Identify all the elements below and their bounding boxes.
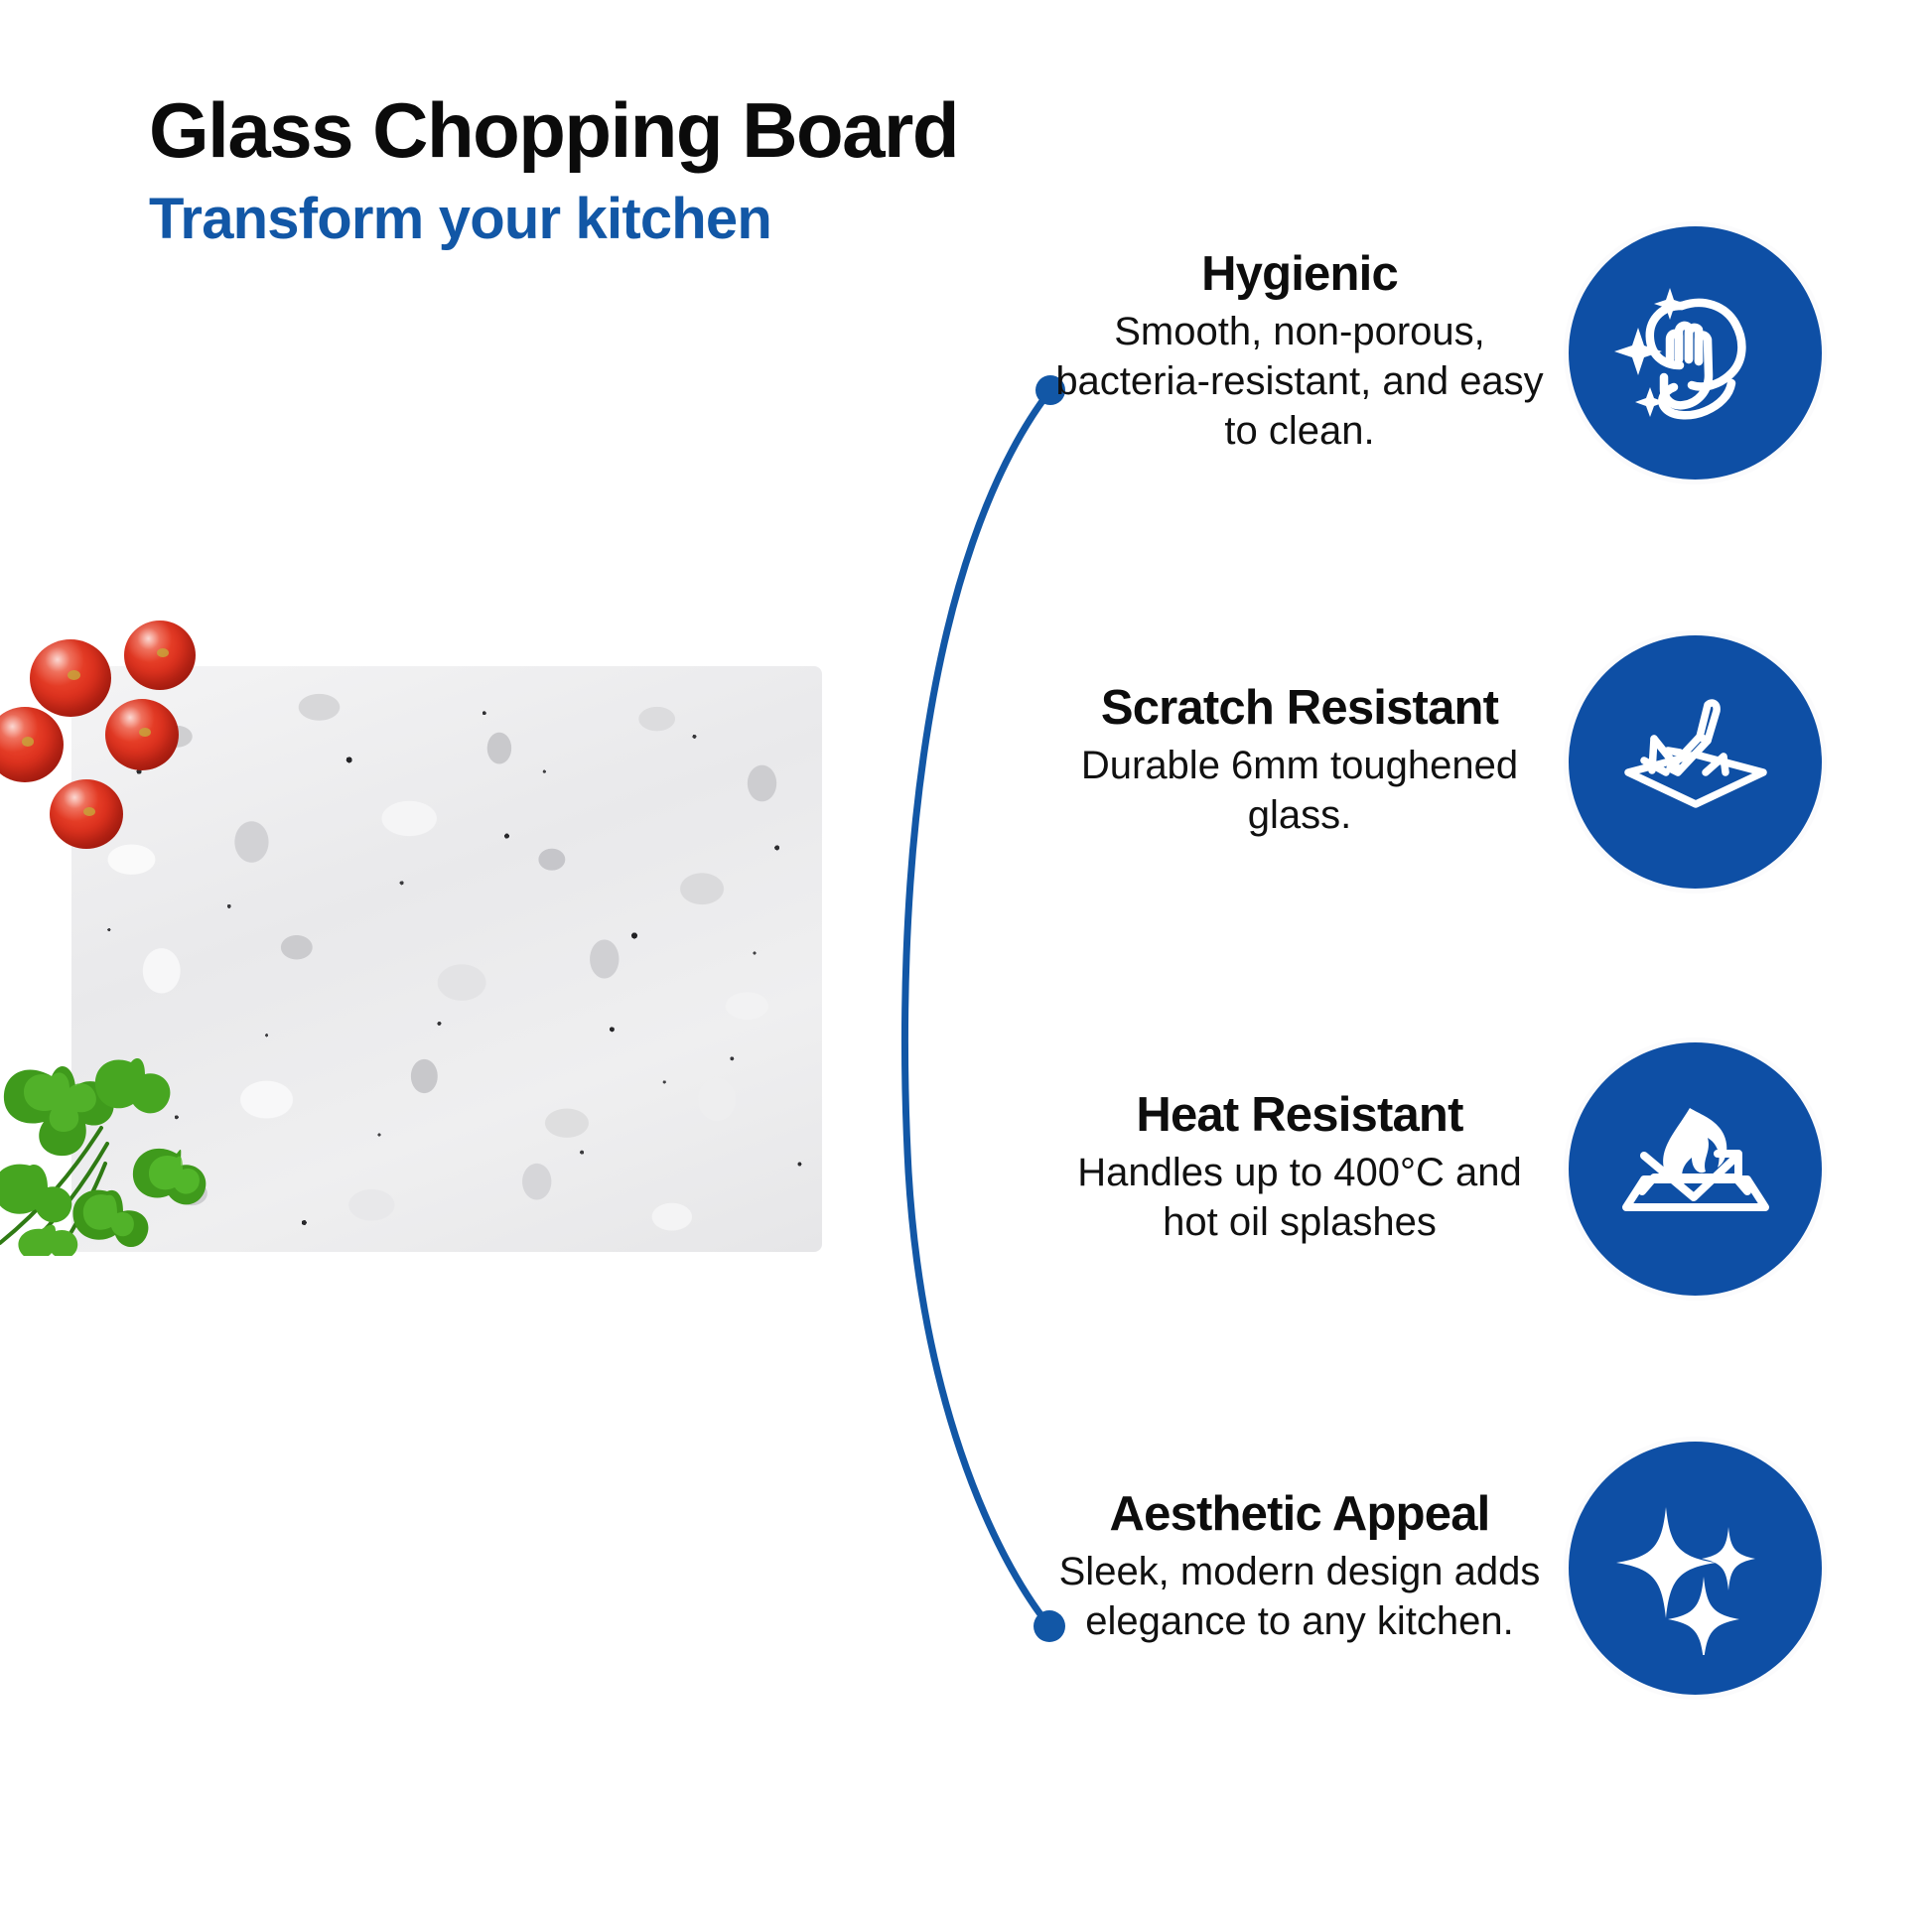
feature-description: Sleek, modern design adds elegance to an… [1052, 1547, 1547, 1647]
feature-item-aesthetic-appeal: Aesthetic Appeal Sleek, modern design ad… [1052, 1442, 1926, 1695]
feature-description: Smooth, non-porous, bacteria-resistant, … [1052, 307, 1547, 457]
feature-description: Handles up to 400°C and hot oil splashes [1052, 1148, 1547, 1248]
connector-path [904, 390, 1050, 1626]
feature-text-block: Hygienic Smooth, non-porous, bacteria-re… [1052, 249, 1569, 457]
feature-title: Aesthetic Appeal [1052, 1489, 1547, 1540]
cherry-tomato [105, 699, 179, 770]
flame-deflect-surface-icon [1569, 1042, 1822, 1296]
hand-wiping-sparkle-icon [1569, 226, 1822, 480]
feature-text-block: Scratch Resistant Durable 6mm toughened … [1052, 683, 1569, 840]
sparkles-icon [1569, 1442, 1822, 1695]
parsley-sprig [0, 1033, 230, 1256]
feature-text-block: Heat Resistant Handles up to 400°C and h… [1052, 1090, 1569, 1247]
page-title: Glass Chopping Board [149, 91, 1142, 169]
feature-title: Scratch Resistant [1052, 683, 1547, 734]
cherry-tomato [0, 707, 64, 782]
feature-item-hygienic: Hygienic Smooth, non-porous, bacteria-re… [1052, 226, 1926, 480]
feature-description: Durable 6mm toughened glass. [1052, 741, 1547, 841]
product-photo [0, 616, 894, 1311]
knife-scratch-surface-icon [1569, 635, 1822, 889]
cherry-tomato [124, 621, 196, 690]
page-subtitle: Transform your kitchen [149, 191, 1142, 248]
feature-item-scratch-resistant: Scratch Resistant Durable 6mm toughened … [1052, 635, 1926, 889]
cherry-tomato [30, 639, 111, 717]
header: Glass Chopping Board Transform your kitc… [149, 91, 1142, 248]
feature-text-block: Aesthetic Appeal Sleek, modern design ad… [1052, 1489, 1569, 1646]
feature-title: Hygienic [1052, 249, 1547, 300]
infographic-canvas: Glass Chopping Board Transform your kitc… [0, 0, 1932, 1932]
feature-item-heat-resistant: Heat Resistant Handles up to 400°C and h… [1052, 1042, 1926, 1296]
cherry-tomato [50, 779, 123, 849]
feature-title: Heat Resistant [1052, 1090, 1547, 1141]
